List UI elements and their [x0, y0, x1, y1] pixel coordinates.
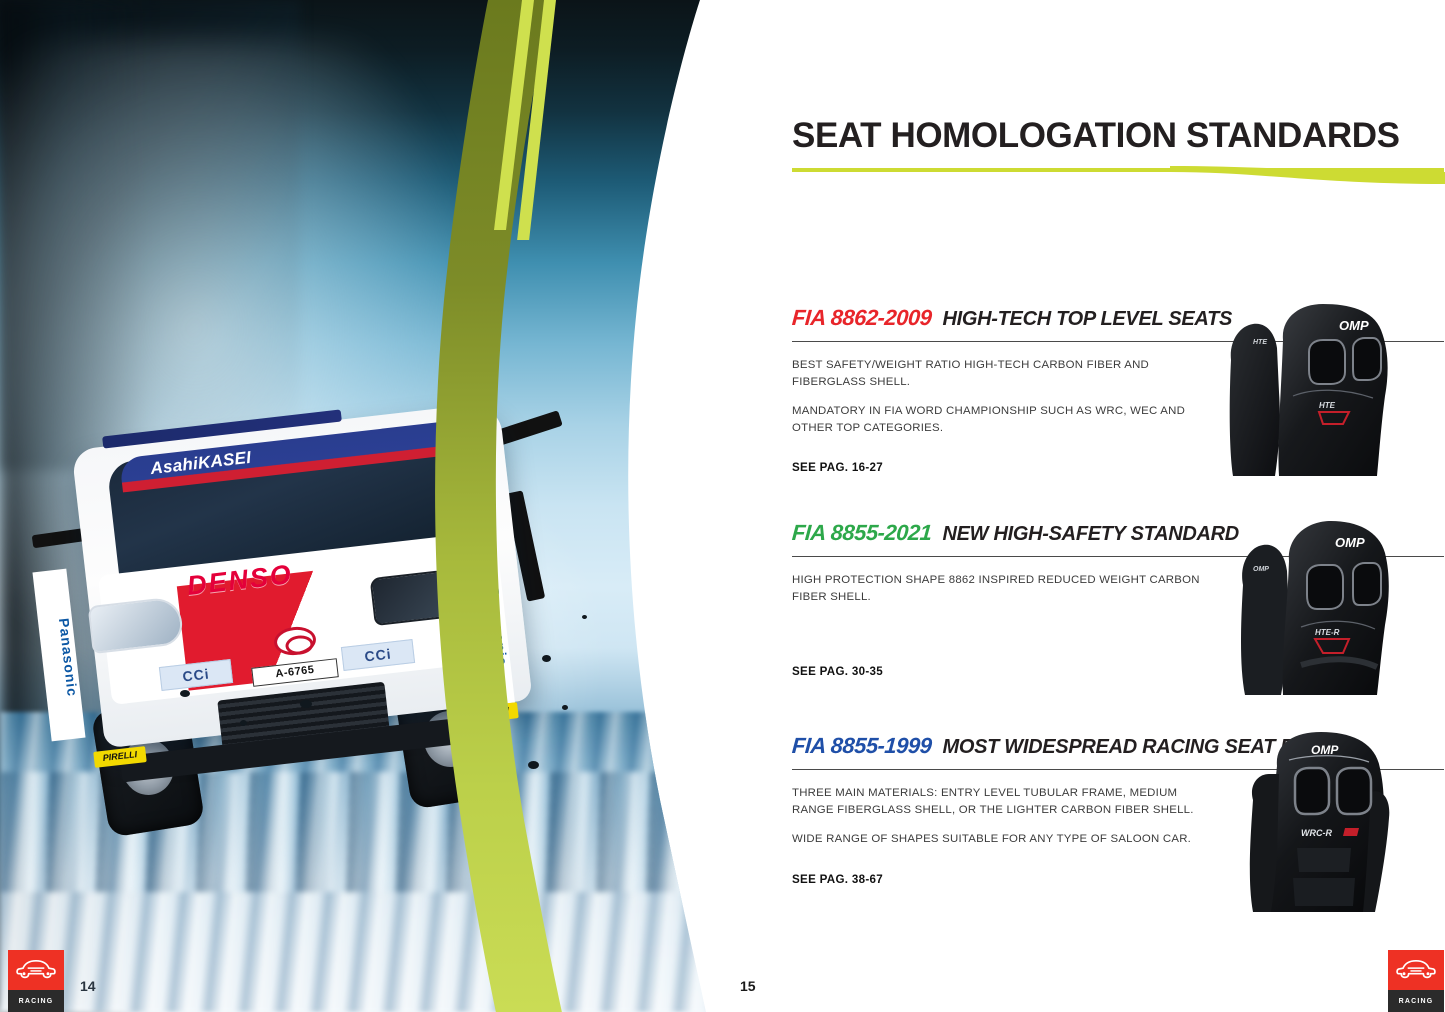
see-page-link[interactable]: SEE PAG. 38-67 [792, 873, 1222, 886]
fia-code-label: FIA 8862-2009 [791, 305, 932, 331]
svg-text:HTE-R: HTE-R [1315, 628, 1340, 637]
car-sponsor-asahi-kasei: AsahiKASEI [149, 448, 252, 479]
see-page-link[interactable]: SEE PAG. 30-35 [792, 665, 1222, 678]
section-paragraph: THREE MAIN MATERIALS: ENTRY LEVEL TUBULA… [792, 785, 1222, 818]
catalog-spread: AsahiKASEI DENSO CCi CCi A-6765 Panasoni… [0, 0, 1445, 1012]
race-car-icon [8, 950, 64, 990]
svg-text:OMP: OMP [1311, 743, 1339, 757]
svg-text:HTE: HTE [1253, 339, 1267, 346]
racing-badge-right: RACING [1388, 950, 1444, 1012]
debris-5 [180, 690, 190, 697]
debris-1 [542, 655, 551, 662]
section-paragraph: BEST SAFETY/WEIGHT RATIO HIGH-TECH CARBO… [792, 357, 1222, 390]
section-title: HIGH-TECH TOP LEVEL SEATS [942, 308, 1232, 331]
svg-text:HTE: HTE [1319, 401, 1336, 410]
svg-text:WRC-R: WRC-R [1301, 828, 1332, 838]
racing-seat-graphic: OMP WRC-R [1223, 730, 1423, 915]
section-paragraph: HIGH PROTECTION SHAPE 8862 INSPIRED REDU… [792, 572, 1222, 605]
racing-badge-label: RACING [1388, 990, 1444, 1012]
rally-car-photo: AsahiKASEI DENSO CCi CCi A-6765 Panasoni… [0, 0, 740, 1012]
seat-image-8862: OMP HTE HTE [1223, 300, 1423, 485]
folio-right: 15 [740, 978, 756, 994]
race-car-glyph [15, 958, 57, 982]
section-body: THREE MAIN MATERIALS: ENTRY LEVEL TUBULA… [792, 785, 1222, 886]
section-title: NEW HIGH-SAFETY STANDARD [942, 523, 1239, 546]
folio-left: 14 [80, 978, 96, 994]
section-paragraph: MANDATORY IN FIA WORD CHAMPIONSHIP SUCH … [792, 403, 1222, 436]
svg-text:OMP: OMP [1253, 566, 1269, 573]
debris-4 [582, 615, 587, 619]
page-title: SEAT HOMOLOGATION STANDARDS [792, 116, 1432, 156]
seat-image-8855-2021: OMP OMP HTE-R [1223, 515, 1423, 700]
racing-seat-graphic: OMP HTE HTE [1223, 300, 1423, 485]
racing-seat-graphic: OMP OMP HTE-R [1223, 515, 1423, 700]
section-body: BEST SAFETY/WEIGHT RATIO HIGH-TECH CARBO… [792, 357, 1222, 474]
see-page-link[interactable]: SEE PAG. 16-27 [792, 461, 1222, 474]
racing-badge-label: RACING [8, 990, 64, 1012]
section-body: HIGH PROTECTION SHAPE 8862 INSPIRED REDU… [792, 572, 1222, 678]
seat-image-8855-1999: OMP WRC-R [1223, 730, 1423, 915]
section-paragraph: WIDE RANGE OF SHAPES SUITABLE FOR ANY TY… [792, 831, 1222, 848]
debris-7 [300, 700, 312, 708]
racing-badge-left: RACING [8, 950, 64, 1012]
right-page: SEAT HOMOLOGATION STANDARDS FIA 8862-200… [740, 0, 1445, 1012]
debris-6 [240, 720, 247, 726]
left-page: AsahiKASEI DENSO CCi CCi A-6765 Panasoni… [0, 0, 740, 1012]
debris-2 [562, 705, 568, 710]
svg-text:OMP: OMP [1339, 318, 1369, 333]
race-car-glyph [1395, 958, 1437, 982]
svg-text:OMP: OMP [1335, 535, 1365, 550]
fia-code-label: FIA 8855-2021 [791, 520, 932, 546]
debris-3 [528, 761, 539, 769]
fia-code-label: FIA 8855-1999 [791, 733, 932, 759]
race-car-icon [1388, 950, 1444, 990]
